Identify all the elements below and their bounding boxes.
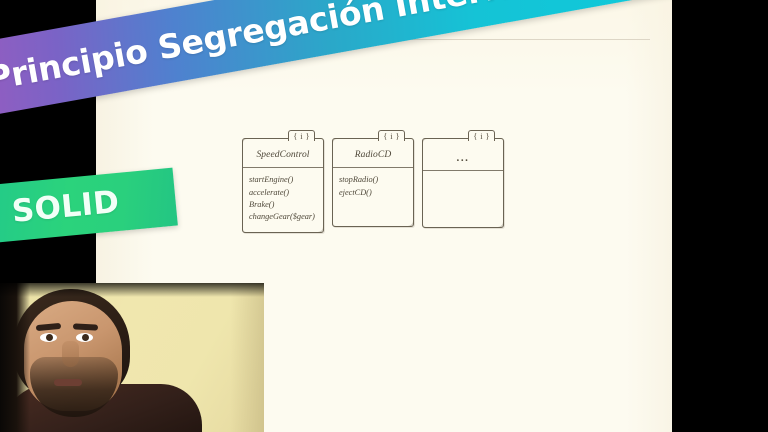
uml-member: ejectCD() [339,187,408,199]
video-frame: SOLID>ISP>POSIBLE SOLUCIÓN { i } SpeedCo… [0,0,768,432]
uml-interface-name: SpeedControl [243,141,323,167]
interface-stereotype-tag: { i } [378,130,405,141]
interface-stereotype-tag: { i } [288,130,315,141]
uml-member: stopRadio() [339,174,408,186]
uml-member: accelerate() [249,187,318,199]
uml-interface-box: { i } RadioCD stopRadio() ejectCD() [332,138,414,227]
uml-member-list: stopRadio() ejectCD() [333,168,413,226]
uml-diagram: { i } SpeedControl startEngine() acceler… [242,138,504,233]
uml-member: Brake() [249,199,318,211]
webcam-presenter-eye-right [76,333,93,342]
uml-box-divider [423,170,503,171]
uml-box-divider [333,167,413,168]
uml-member-list: startEngine() accelerate() Brake() chang… [243,168,323,232]
webcam-presenter-eye-left [40,333,57,342]
uml-member-list-empty [423,171,503,227]
webcam-left-shadow [0,283,30,432]
solid-badge-text: SOLID [10,182,145,230]
uml-box-divider [243,167,323,168]
uml-interface-name-ellipsis: ... [423,141,503,170]
presenter-webcam [0,283,264,432]
webcam-presenter-eyebrow-right [73,323,98,330]
interface-stereotype-tag: { i } [468,130,495,141]
webcam-presenter-nose [62,341,79,367]
uml-interface-name: RadioCD [333,141,413,167]
uml-member: startEngine() [249,174,318,186]
webcam-presenter-mouth [54,379,82,386]
uml-member: changeGear($gear) [249,211,318,223]
uml-interface-box: { i } SpeedControl startEngine() acceler… [242,138,324,233]
webcam-top-shadow [0,283,264,297]
uml-interface-box-placeholder: { i } ... [422,138,504,228]
webcam-wall-shadow [230,283,264,432]
